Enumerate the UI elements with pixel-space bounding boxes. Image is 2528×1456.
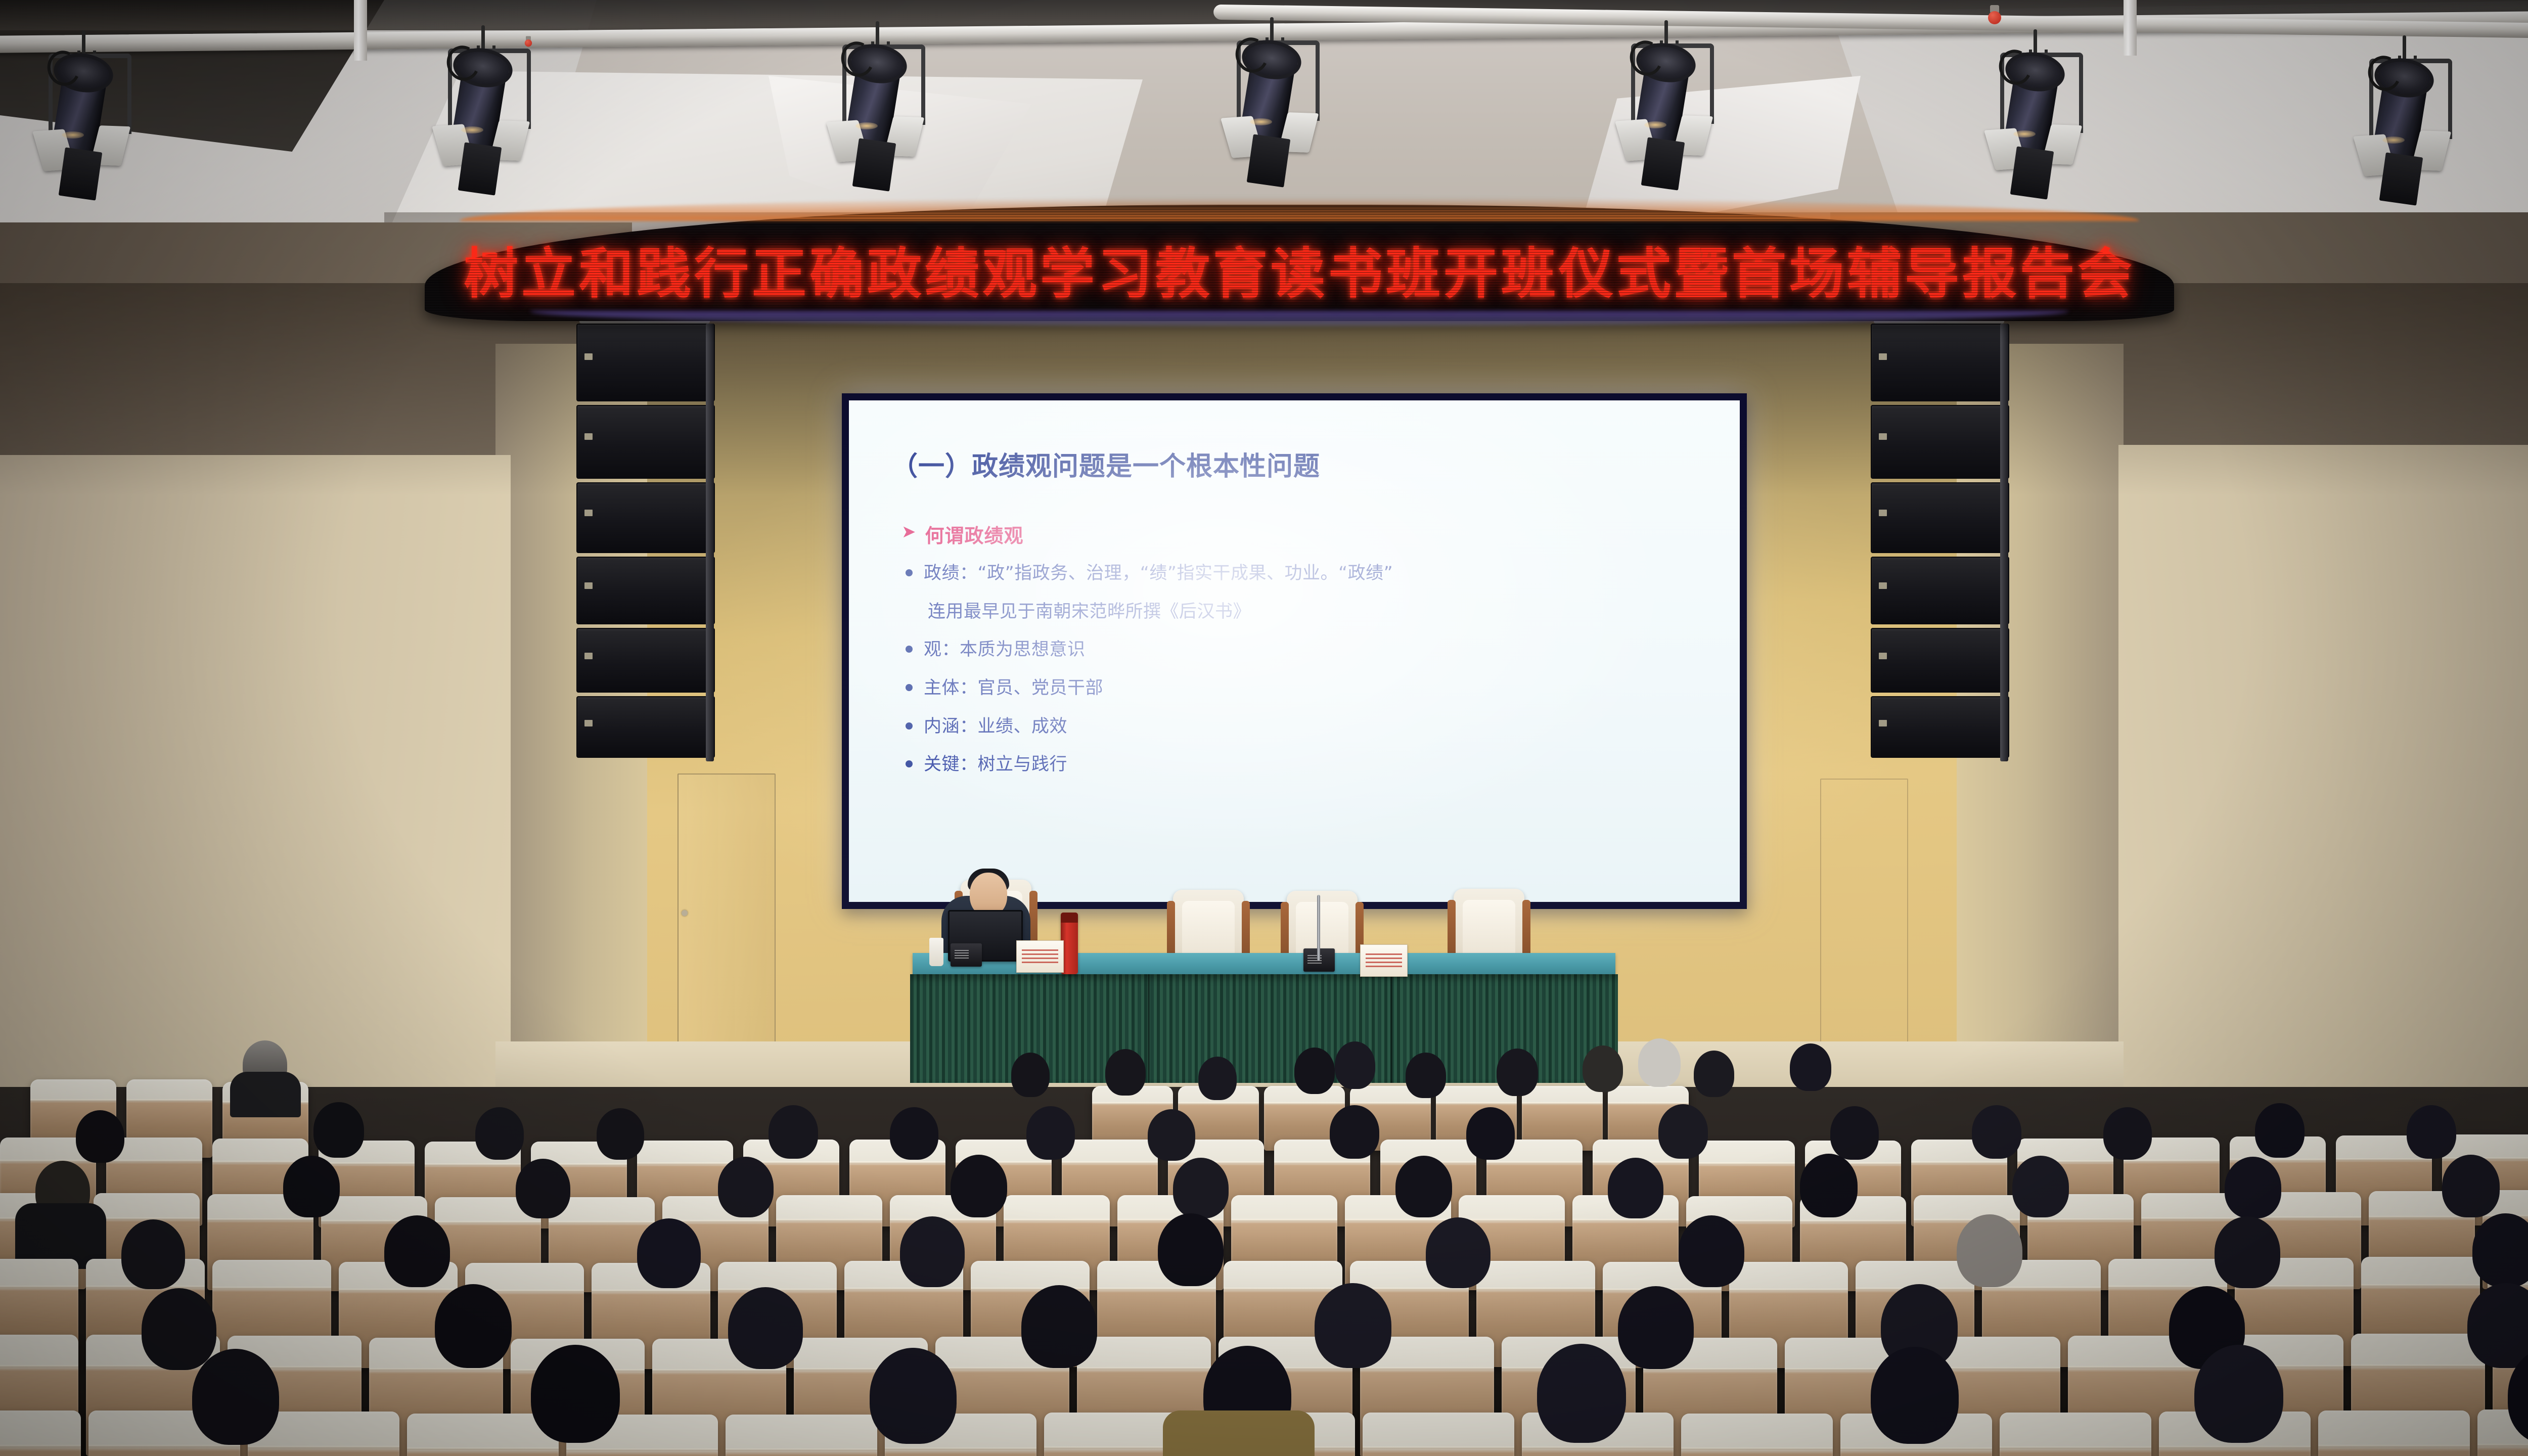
bullet-dot-icon [906,722,913,730]
slide-bullet-text: 关键：树立与践行 [924,752,1067,778]
audience-person-head [1158,1213,1224,1286]
audience-person-head [1618,1286,1694,1369]
audience-person-head [531,1345,620,1443]
audience-person-head [2442,1155,2500,1217]
audience-person-head [121,1219,185,1289]
audience-person-head [1335,1041,1375,1089]
array-module [576,628,715,693]
audience-person-head [890,1107,938,1160]
house-wall-left [0,455,511,1097]
audience-seat[interactable] [726,1415,877,1456]
audience-person-head [1426,1217,1491,1288]
slide-bullet-text: 观：本质为思想意识 [924,638,1086,663]
audience-person-head [870,1348,957,1444]
truss-drop-pipe-right [2124,0,2137,56]
slide-body: ➤ 何谓政绩观 政绩：“政”指政务、治理，“绩”指实干成果、功业。“政绩” 连用… [901,520,1704,778]
audience-person-head [1395,1156,1452,1217]
slide-bullet-row: 主体：官员、党员干部 [901,676,1704,701]
stage-light-3 [829,21,930,188]
audience-person-head [1871,1347,1959,1444]
audience-seat[interactable] [2000,1413,2151,1456]
stage-light-6 [1987,29,2088,196]
audience-person-head [2225,1157,2281,1218]
bullet-dot-icon [906,760,913,767]
microphone-base-left[interactable] [951,943,982,967]
slide-bullet-row: 观：本质为思想意识 [901,638,1704,663]
array-module [1871,557,2009,624]
audience-person-head [1021,1285,1097,1368]
slide-bullet-text: 主体：官员、党员干部 [924,676,1103,701]
audience-seat[interactable] [2318,1410,2470,1456]
audience-person-head [2194,1345,2283,1443]
audience-person-head [1583,1045,1623,1092]
water-cup[interactable] [929,938,943,966]
stage-light-5 [1618,20,1719,187]
audience-person-head [637,1218,701,1288]
audience-person-head [283,1156,340,1217]
audience-person-head [76,1110,124,1163]
line-array-right [1871,324,2007,761]
audience-person-head [2103,1107,2152,1160]
audience-person-head [1330,1105,1379,1159]
array-module [576,557,715,624]
audience-person-head [1148,1109,1195,1161]
array-module [1871,324,2009,401]
array-module [576,405,715,479]
audience-person-head [2255,1103,2305,1158]
table-nameplate-center [1360,944,1408,977]
audience-person-head [384,1215,450,1287]
audience-person-head [1497,1049,1538,1096]
audience-person-head [597,1108,644,1160]
light-glow [62,131,84,139]
audience-person-head [900,1216,965,1287]
barn-door-bottom [59,147,103,200]
array-module [1871,696,2009,758]
stage-light-4 [1224,17,1325,184]
slide-title: （一）政绩观问题是一个根本性问题 [891,445,1704,483]
audience-person-head [1790,1043,1831,1091]
audience-person-head [1026,1106,1075,1160]
audience-person-head [769,1105,818,1159]
audience-person-head [1011,1053,1050,1097]
audience-person-head [1537,1344,1626,1443]
stage-door-left[interactable] [678,773,776,1064]
audience-person-head [1315,1283,1391,1368]
slide-bullet-row: 政绩：“政”指政务、治理，“绩”指实干成果、功业。“政绩” [901,561,1704,586]
audience-person-head [2012,1156,2069,1217]
audience-person-head [1173,1158,1229,1218]
array-rigging-rail [2000,324,2008,761]
audience-person-head [1972,1105,2021,1159]
array-module [576,324,715,401]
sprinkler-head [1987,5,2002,26]
arrow-bullet-icon: ➤ [901,523,916,540]
array-module [1871,482,2009,553]
auditorium-scene: 树立和践行正确政绩观学习教育读书班开班仪式暨首场辅导报告会 （一）政绩观问题是一… [0,0,2528,1456]
projection-screen-frame: （一）政绩观问题是一个根本性问题 ➤ 何谓政绩观 政绩：“政”指政务、治理，“绩… [842,393,1747,909]
audience-person-head [516,1159,570,1218]
audience-person-head [718,1157,774,1217]
table-nameplate-left [1016,940,1064,973]
slide-bullet-row: 关键：树立与践行 [901,752,1704,778]
door-handle-icon[interactable] [682,910,688,916]
audience-person-head [142,1288,216,1370]
stage-light-2 [435,25,536,192]
array-rigging-rail [706,324,714,761]
audience-person-head [951,1155,1007,1217]
audience-person-head [1466,1107,1515,1160]
led-banner: 树立和践行正确政绩观学习教育读书班开班仪式暨首场辅导报告会 [425,205,2174,321]
audience-person-head [1406,1053,1446,1098]
audience-person-head [1800,1154,1858,1217]
microphone-stalk [1317,895,1320,961]
table-skirt-seam [1390,974,1392,1083]
audience-person-head [1694,1051,1734,1097]
audience-person-head [1679,1215,1744,1287]
audience-person-head [435,1284,512,1368]
audience-seat[interactable] [0,1410,81,1456]
audience-seat[interactable] [1681,1414,1833,1456]
array-module [1871,628,2009,693]
truss-drop-pipe-left [354,0,367,61]
audience-person-head [728,1287,803,1369]
audience-person-head [2215,1216,2280,1288]
audience-person-head [1105,1049,1146,1096]
slide-bullet-text: 政绩：“政”指政务、治理，“绩”指实干成果、功业。“政绩” [924,561,1393,586]
audience-person-torso [230,1072,301,1117]
bullet-dot-icon [906,684,913,691]
audience-person-torso [1163,1410,1315,1456]
slide-bullet-row: 内涵：业绩、成效 [901,714,1704,740]
slide-arrow-bullet-text: 何谓政绩观 [925,520,1024,548]
audience-person-head [1638,1038,1681,1087]
array-module [1871,405,2009,479]
led-banner-text: 树立和践行正确政绩观学习教育读书班开班仪式暨首场辅导报告会 [425,230,2174,309]
house-wall-right [2118,445,2528,1097]
slide-arrow-bullet-row: ➤ 何谓政绩观 [901,520,1704,548]
audience-person-head [1198,1057,1237,1100]
stage-light-1 [35,30,137,197]
audience-person-head [2407,1105,2456,1159]
array-module [576,482,715,553]
stage-door-right[interactable] [1820,779,1908,1064]
audience-person-head [1830,1106,1879,1160]
array-module [576,696,715,758]
bullet-dot-icon [906,569,913,576]
audience-person-head [1294,1048,1335,1094]
audience-person-head [1957,1214,2022,1287]
table-skirt-seam [1148,974,1150,1083]
audience-person-head [313,1102,364,1158]
audience-person-head [1608,1158,1663,1218]
audience-person-head [192,1349,279,1445]
slide-bullet-continuation: 连用最早见于南朝宋范晔所撰《后汉书》 [928,600,1704,625]
projection-screen: （一）政绩观问题是一个根本性问题 ➤ 何谓政绩观 政绩：“政”指政务、治理，“绩… [849,400,1740,902]
audience-person-head [1658,1104,1708,1159]
audience-person-head [475,1107,524,1160]
stage-light-7 [2356,35,2457,202]
line-array-left [576,324,713,761]
slide-bullet-text: 内涵：业绩、成效 [924,714,1067,740]
bullet-dot-icon [906,646,913,653]
light-hook-icon [82,30,85,57]
audience-seat[interactable] [1363,1413,1514,1456]
